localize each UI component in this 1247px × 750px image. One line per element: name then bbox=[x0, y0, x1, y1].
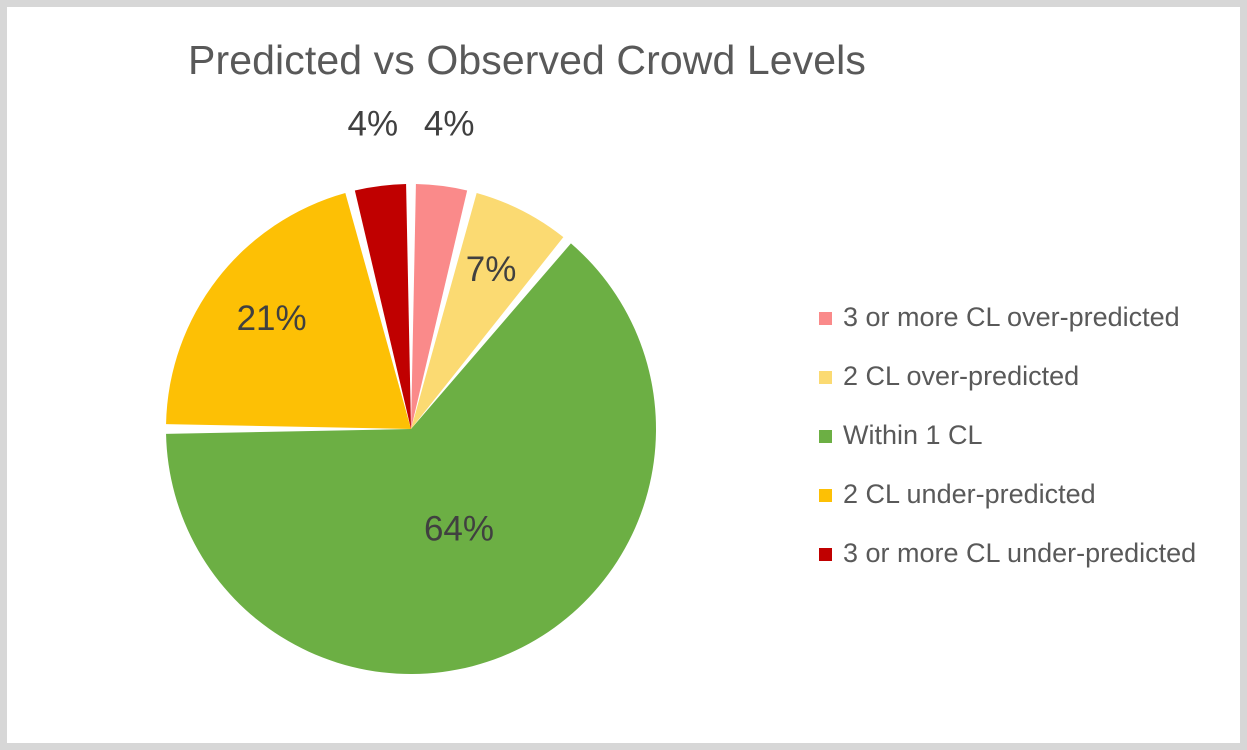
legend-swatch-icon bbox=[819, 312, 832, 325]
chart-container: Predicted vs Observed Crowd Levels 4%7%6… bbox=[0, 0, 1247, 750]
legend-item-label: 2 CL over-predicted bbox=[843, 362, 1079, 392]
legend-item-label: 3 or more CL under-predicted bbox=[843, 539, 1196, 569]
legend-swatch-icon bbox=[819, 548, 832, 561]
legend-swatch-icon bbox=[819, 371, 832, 384]
pie-data-label: 7% bbox=[466, 250, 517, 289]
legend-swatch-icon bbox=[819, 430, 832, 443]
pie-slice-group bbox=[166, 184, 656, 674]
legend-item-label: 3 or more CL over-predicted bbox=[843, 303, 1180, 333]
pie-data-label: 4% bbox=[424, 105, 475, 144]
legend-item-label: Within 1 CL bbox=[843, 421, 983, 451]
legend-item[interactable]: 3 or more CL over-predicted bbox=[819, 288, 1239, 347]
legend-item-label: 2 CL under-predicted bbox=[843, 480, 1096, 510]
pie-data-label: 64% bbox=[424, 509, 494, 548]
pie-chart-plot-area: 4%7%64%21%4% bbox=[7, 7, 827, 750]
pie-chart-svg: 4%7%64%21%4% bbox=[7, 7, 827, 750]
legend-item[interactable]: 2 CL under-predicted bbox=[819, 465, 1239, 524]
chart-legend: 3 or more CL over-predicted2 CL over-pre… bbox=[819, 288, 1239, 583]
legend-item[interactable]: 2 CL over-predicted bbox=[819, 347, 1239, 406]
pie-data-label: 4% bbox=[348, 105, 399, 144]
legend-item[interactable]: Within 1 CL bbox=[819, 406, 1239, 465]
legend-swatch-icon bbox=[819, 489, 832, 502]
pie-data-label: 21% bbox=[237, 299, 307, 338]
legend-item[interactable]: 3 or more CL under-predicted bbox=[819, 524, 1239, 583]
